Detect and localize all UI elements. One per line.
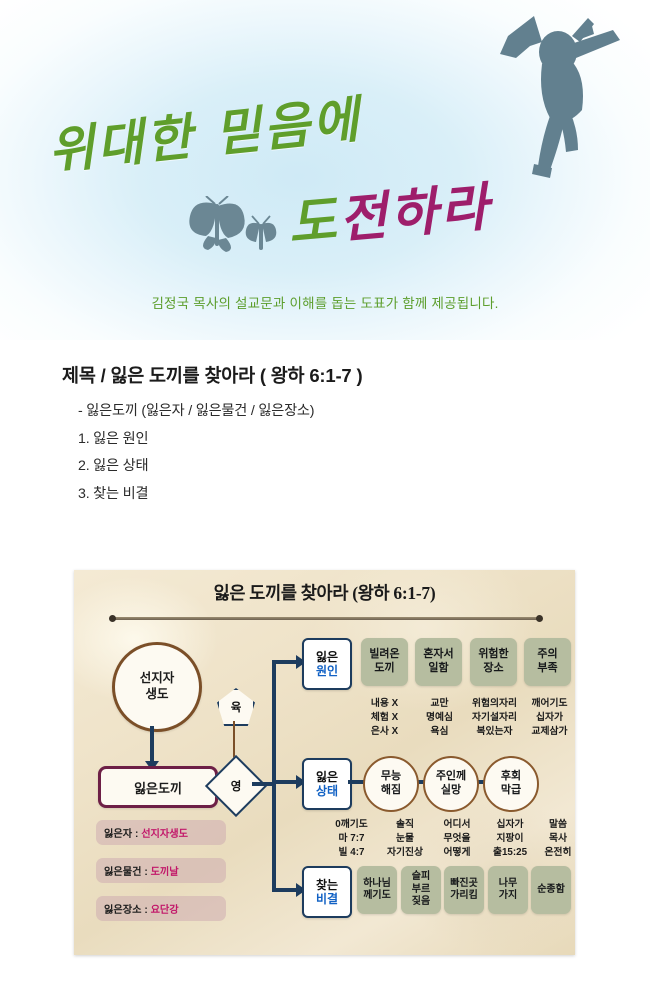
legend-item: 잃은장소 : 요단강: [96, 896, 226, 921]
legend-value: 도끼날: [151, 867, 179, 878]
circle-line1: 무능: [381, 770, 401, 784]
legend-key: 잃은장소 :: [104, 905, 148, 916]
section-label-cause-top: 잃은: [316, 650, 338, 664]
circle-line2: 해짐: [381, 784, 401, 798]
tile-line2: 일함: [423, 662, 453, 676]
tile-line1: 하나님: [363, 878, 391, 891]
tile-line2: 가지: [499, 890, 517, 903]
tile-cause-3: 위험한장소: [470, 638, 517, 686]
title-divider: [112, 617, 540, 620]
circle-line2: 막급: [501, 784, 521, 798]
tile-line1: 순종함: [537, 884, 565, 897]
circle-line1: 주인께: [436, 770, 466, 784]
list-item: 1. 잃은 원인: [78, 426, 650, 454]
tile-line1: 나무: [499, 878, 517, 891]
legend-item: 잃은자 : 선지자생도: [96, 820, 226, 845]
outline-list: - 잃은도끼 (잃은자 / 잃은물건 / 잃은장소) 1. 잃은 원인 2. 잃…: [78, 398, 650, 509]
subtext-line1: 십자가: [483, 818, 537, 832]
section-label-secret-bottom: 비결: [316, 892, 338, 906]
tile-secret-3: 빠진곳가리킴: [444, 866, 484, 914]
page-title: 제목 / 잃은 도끼를 찾아라 ( 왕하 6:1-7 ): [62, 362, 650, 388]
subtext-line3: 욕심: [416, 725, 463, 739]
arrow-down-icon: [150, 726, 154, 762]
banner-title-line-2: 도전하라: [285, 164, 494, 256]
subtext-line1: 위험의자리: [468, 697, 521, 711]
banner-title-line-2-green: 도: [286, 190, 342, 255]
connector-line: [252, 782, 274, 786]
list-item: - 잃은도끼 (잃은자 / 잃은물건 / 잃은장소): [78, 398, 650, 426]
subtext-state-2: 솔직 눈물 자기진상: [379, 818, 431, 861]
tile-secret-1: 하나님께기도: [357, 866, 397, 914]
subtext-state-3: 어디서 무엇을 어떻게: [431, 818, 483, 861]
circle-line1: 후회: [501, 770, 521, 784]
tile-secret-4: 나무가지: [488, 866, 528, 914]
subtext-line2: 마 7:7: [324, 832, 379, 846]
diagram-title: 잃은 도끼를 찾아라 (왕하 6:1-7): [74, 580, 575, 605]
subtext-cause-2: 교만 명예심 욕심: [416, 697, 463, 740]
tile-line1: 혼자서: [423, 648, 453, 662]
section-label-secret: 찾는 비결: [302, 866, 352, 918]
subtext-line1: 말씀: [535, 818, 581, 832]
subtext-cause-4: 깨어기도 십자가 교제삼가: [523, 697, 576, 740]
banner-subtitle: 김정국 목사의 설교문과 이해를 돕는 도표가 함께 제공됩니다.: [0, 292, 650, 312]
subtext-line2: 체험 X: [361, 711, 408, 725]
sermon-outline: 제목 / 잃은 도끼를 찾아라 ( 왕하 6:1-7 ) - 잃은도끼 (잃은자…: [0, 340, 650, 509]
tile-line2: 부르: [412, 884, 430, 897]
diagram-panel: 잃은 도끼를 찾아라 (왕하 6:1-7) 선지자 생도 잃은도끼 잃은자 : …: [74, 570, 575, 955]
tile-line1: 빠진곳: [450, 878, 478, 891]
subtext-line2: 목사: [535, 832, 581, 846]
subtext-cause-3: 위험의자리 자기설자리 복있는자: [468, 697, 521, 740]
tile-line1: 위험한: [478, 648, 508, 662]
section-label-secret-top: 찾는: [316, 878, 338, 892]
legend-key: 잃은자 :: [104, 829, 138, 840]
subtext-state-1: 0깨기도 마 7:7 빌 4:7: [324, 818, 379, 861]
subtext-line1: 0깨기도: [324, 818, 379, 832]
node-spirit-diamond-label: 영: [216, 766, 256, 806]
subtext-line3: 교제삼가: [523, 725, 576, 739]
branch-arrow-icon: [272, 660, 296, 664]
subtext-cause-1: 내용 X 체험 X 은사 X: [361, 697, 408, 740]
subtext-line1: 교만: [416, 697, 463, 711]
tile-line2: 가리킴: [450, 890, 478, 903]
tile-line2: 부족: [537, 662, 557, 676]
tile-line1: 주의: [537, 648, 557, 662]
subtext-line3: 빌 4:7: [324, 846, 379, 860]
circle-state-1: 무능해짐: [363, 756, 419, 812]
circle-state-2: 주인께실망: [423, 756, 479, 812]
section-label-cause: 잃은 원인: [302, 638, 352, 690]
subtext-line3: 자기진상: [379, 846, 431, 860]
node-flesh-pentagon: 육: [217, 688, 255, 726]
tile-line2: 도끼: [369, 662, 399, 676]
tile-line2: 장소: [478, 662, 508, 676]
tile-secret-2: 슬피부르짖음: [401, 866, 441, 914]
circle-line2: 실망: [436, 784, 466, 798]
section-label-state: 잃은 상태: [302, 758, 352, 810]
node-spirit-diamond: 영: [205, 755, 267, 817]
node-lost-axe: 잃은도끼: [98, 766, 218, 808]
connector-line: [272, 662, 276, 892]
subtext-line2: 무엇을: [431, 832, 483, 846]
subtext-state-4: 십자가 지팡이 출15:25: [483, 818, 537, 861]
subtext-line3: 출15:25: [483, 846, 537, 860]
tile-cause-4: 주의부족: [524, 638, 571, 686]
tile-cause-2: 혼자서일함: [415, 638, 462, 686]
node-prophet-disciple-line2: 생도: [140, 687, 175, 703]
subtext-line3: 온전히: [535, 846, 581, 860]
tile-line1: 빌려온: [369, 648, 399, 662]
banner-title-line-1: 위대한 믿음에: [44, 79, 364, 183]
section-label-state-bottom: 상태: [316, 784, 338, 798]
section-label-cause-bottom: 원인: [316, 664, 338, 678]
legend-value: 선지자생도: [141, 829, 188, 840]
section-label-state-top: 잃은: [316, 770, 338, 784]
branch-arrow-icon: [272, 888, 296, 892]
branch-arrow-icon: [272, 780, 296, 784]
subtext-line3: 은사 X: [361, 725, 408, 739]
legend-value: 요단강: [151, 905, 179, 916]
subtext-line1: 솔직: [379, 818, 431, 832]
subtext-line2: 지팡이: [483, 832, 537, 846]
tile-cause-1: 빌려온도끼: [361, 638, 408, 686]
subtext-line1: 내용 X: [361, 697, 408, 711]
butterfly-icon: [182, 196, 292, 256]
banner-title-line-2-magenta: 전하라: [336, 176, 493, 250]
subtext-line2: 자기설자리: [468, 711, 521, 725]
subtext-line2: 눈물: [379, 832, 431, 846]
tile-line1: 슬피: [412, 871, 430, 884]
hero-banner: 위대한 믿음에 도전하라 김정국 목사의 설교문과 이해를 돕는 도표가 함께 …: [0, 0, 650, 340]
tile-secret-5: 순종함: [531, 866, 571, 914]
tile-line2: 께기도: [363, 890, 391, 903]
tile-line3: 짖음: [412, 896, 430, 909]
node-prophet-disciple: 선지자 생도: [112, 642, 202, 732]
legend-item: 잃은물건 : 도끼날: [96, 858, 226, 883]
subtext-line3: 어떻게: [431, 846, 483, 860]
subtext-line3: 복있는자: [468, 725, 521, 739]
legend-key: 잃은물건 :: [104, 867, 148, 878]
circle-state-3: 후회막급: [483, 756, 539, 812]
list-item: 3. 찾는 비결: [78, 481, 650, 509]
subtext-line2: 명예심: [416, 711, 463, 725]
legend: 잃은자 : 선지자생도 잃은물건 : 도끼날 잃은장소 : 요단강: [96, 820, 226, 934]
subtext-state-5: 말씀 목사 온전히: [535, 818, 581, 861]
list-item: 2. 잃은 상태: [78, 453, 650, 481]
jumping-person-silhouette: [438, 6, 628, 186]
subtext-line1: 어디서: [431, 818, 483, 832]
node-prophet-disciple-line1: 선지자: [140, 671, 175, 687]
subtext-line2: 십자가: [523, 711, 576, 725]
subtext-line1: 깨어기도: [523, 697, 576, 711]
